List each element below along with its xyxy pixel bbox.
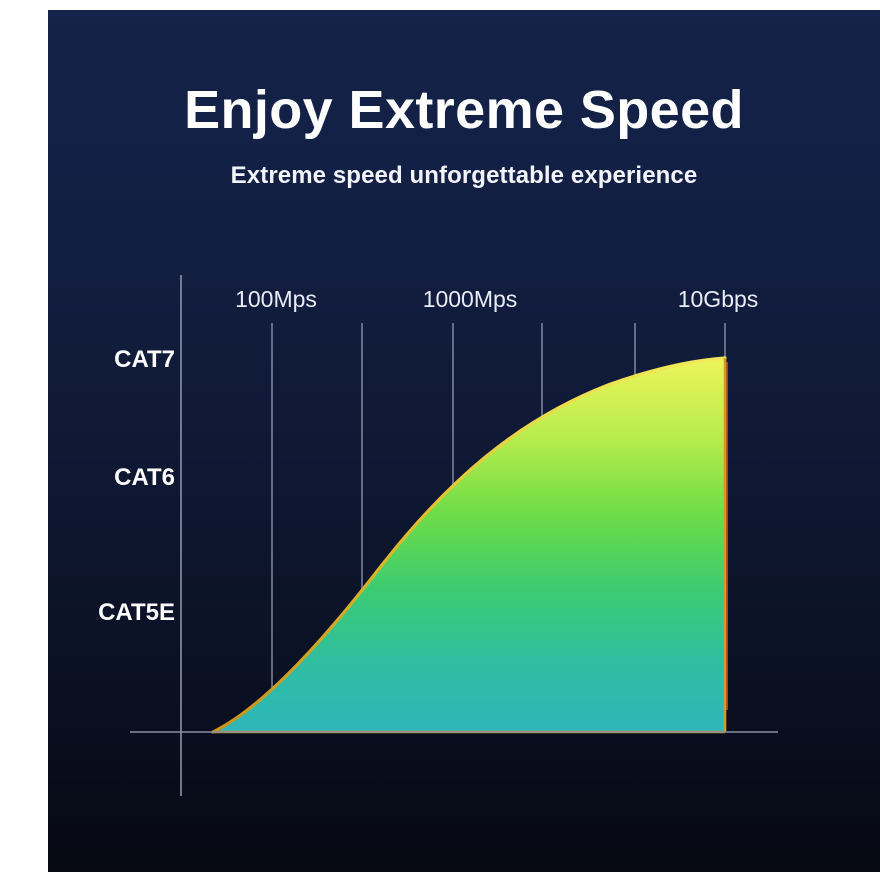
y-tick-label-cat7: CAT7 (48, 346, 175, 374)
x-tick-label-10gbps: 10Gbps (678, 286, 759, 313)
page-subtitle: Extreme speed unforgettable experience (48, 162, 880, 190)
screenshot-root: Enjoy Extreme Speed Extreme speed unforg… (0, 0, 880, 880)
y-tick-label-cat5e: CAT5E (48, 599, 175, 627)
y-tick-label-cat6: CAT6 (48, 464, 175, 492)
x-tick-label-1000mps: 1000Mps (423, 286, 518, 313)
promo-banner-panel: Enjoy Extreme Speed Extreme speed unforg… (48, 10, 880, 872)
page-title: Enjoy Extreme Speed (48, 82, 880, 139)
speed-area-fill (213, 358, 725, 732)
x-tick-label-100mps: 100Mps (235, 286, 317, 313)
